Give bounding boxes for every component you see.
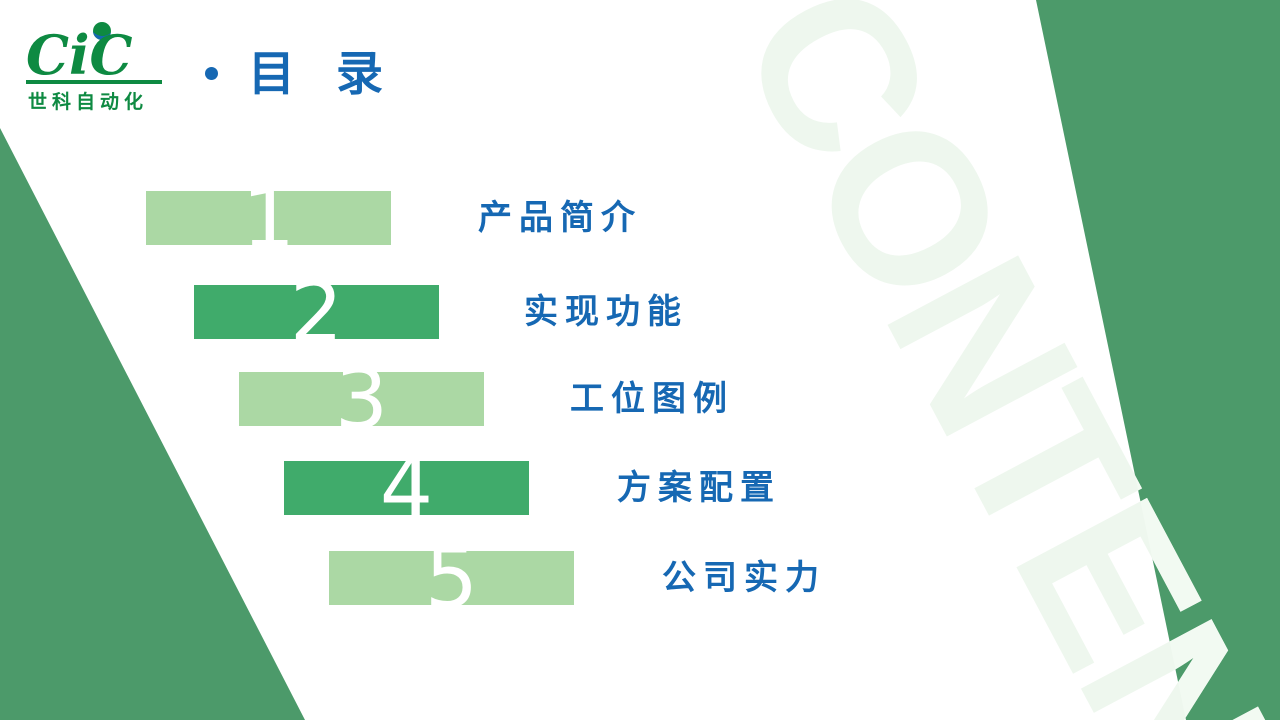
item-number: 1 <box>146 176 391 260</box>
item-label[interactable]: 公司实力 <box>662 561 826 595</box>
item-label[interactable]: 产品简介 <box>478 201 642 235</box>
item-number: 3 <box>239 357 484 441</box>
item-number: 2 <box>194 270 439 354</box>
item-label[interactable]: 实现功能 <box>524 295 688 329</box>
slide-canvas: CONTENTS CONTENTS CiC 世科自动化 目 录 <box>0 0 1280 720</box>
contents-list: 1 产品简介 2 实现功能 3 工位图例 4 方案配置 5 公司实力 <box>0 0 1280 720</box>
item-label[interactable]: 工位图例 <box>570 382 734 416</box>
item-label[interactable]: 方案配置 <box>617 471 781 505</box>
item-number: 5 <box>329 536 574 620</box>
item-number: 4 <box>284 446 529 530</box>
